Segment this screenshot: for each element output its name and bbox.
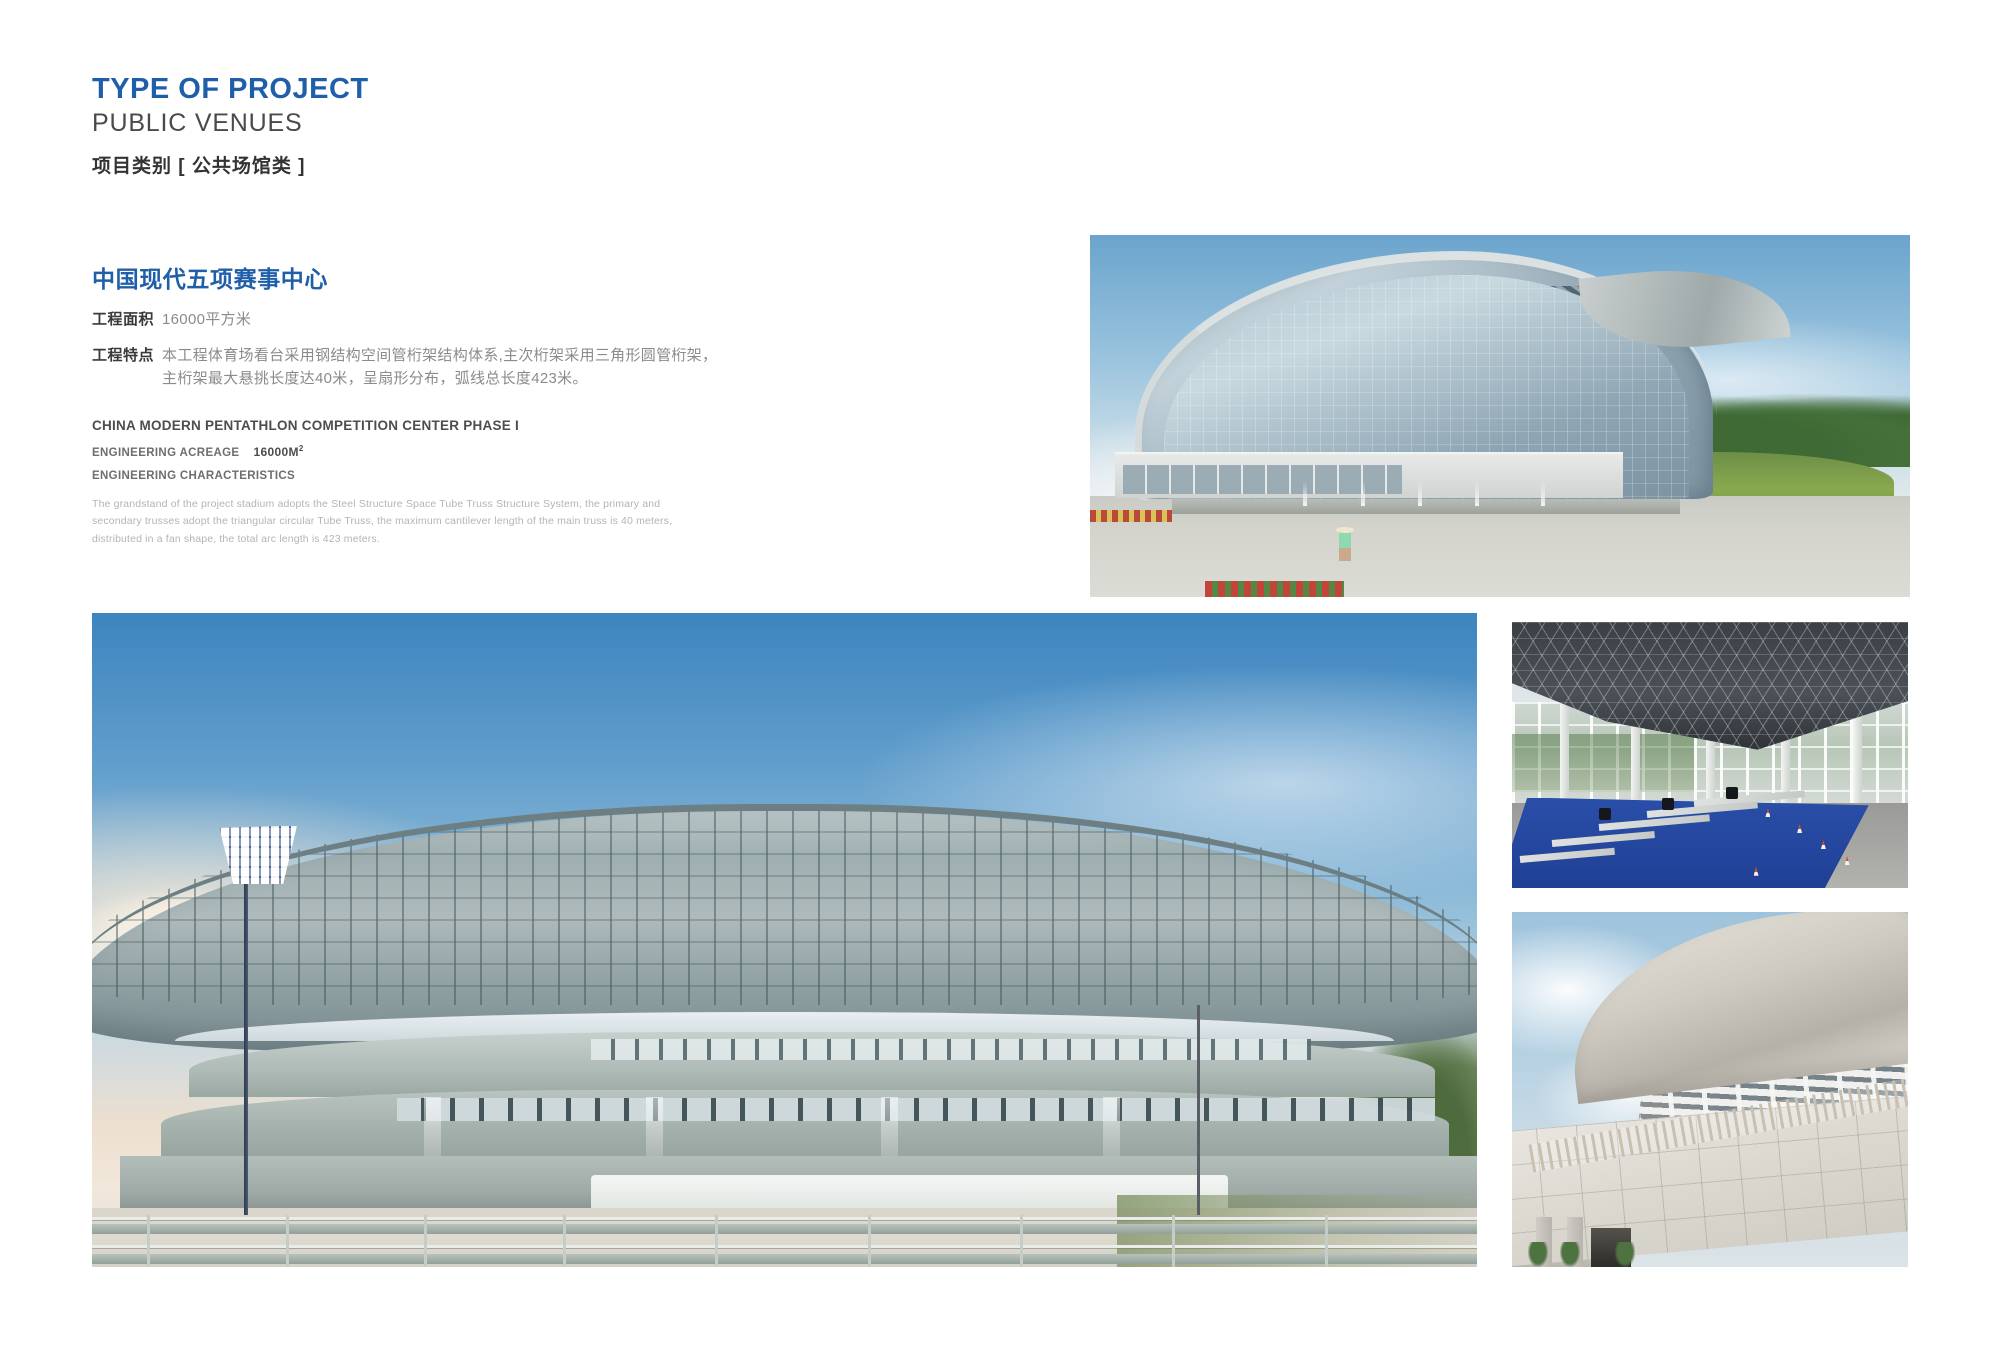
shrub bbox=[1615, 1242, 1635, 1267]
characteristics-line-1: 本工程体育场看台采用钢结构空间管桁架结构体系,主次桁架采用三角形圆管桁架， bbox=[162, 347, 717, 364]
fountain-jet bbox=[1418, 481, 1422, 506]
fountain-jet bbox=[1541, 481, 1545, 506]
acreage-unit-superscript: 2 bbox=[299, 444, 304, 453]
fence-post bbox=[1172, 1215, 1175, 1267]
photo-scene bbox=[92, 613, 1477, 1267]
grandstand-middle-windows bbox=[397, 1098, 1436, 1120]
photo-fencing-hall-interior bbox=[1512, 622, 1908, 888]
page-title: TYPE OF PROJECT bbox=[92, 72, 792, 106]
photo-facade-louver-detail bbox=[1512, 912, 1908, 1267]
characteristics-line-2: 主桁架最大悬挑长度达40米，呈扇形分布，弧线总长度423米。 bbox=[162, 367, 717, 390]
fountain-jet bbox=[1303, 481, 1307, 506]
page-subtitle: PUBLIC VENUES bbox=[92, 108, 792, 139]
acreage-label-english: ENGINEERING ACREAGE bbox=[92, 447, 239, 459]
shrub bbox=[1528, 1242, 1548, 1267]
fence-post bbox=[1325, 1215, 1328, 1267]
site-fence-band bbox=[92, 1254, 1477, 1264]
fence-post bbox=[868, 1215, 871, 1267]
plaza-retaining-wall bbox=[1172, 499, 1680, 513]
project-title-english: CHINA MODERN PENTATHLON COMPETITION CENT… bbox=[92, 417, 812, 436]
fencing-reel-equipment bbox=[1662, 798, 1674, 810]
acreage-value-chinese: 16000平方米 bbox=[162, 308, 251, 331]
site-fence-band bbox=[92, 1224, 1477, 1234]
stair-core bbox=[646, 1097, 663, 1162]
stair-core bbox=[424, 1097, 441, 1162]
floodlight-mast-pole bbox=[244, 875, 248, 1215]
site-fence-rail bbox=[92, 1245, 1477, 1248]
stair-core bbox=[1103, 1097, 1120, 1162]
fence-post bbox=[715, 1215, 718, 1267]
page-header: TYPE OF PROJECT PUBLIC VENUES 项目类别 [ 公共场… bbox=[92, 72, 792, 180]
characteristics-paragraph-english: The grandstand of the project stadium ad… bbox=[92, 496, 712, 548]
pedestrian-figure bbox=[1339, 532, 1350, 561]
engineering-characteristics-row-chinese: 工程特点 本工程体育场看台采用钢结构空间管桁架结构体系,主次桁架采用三角形圆管桁… bbox=[92, 344, 812, 391]
fountain-jet bbox=[1361, 481, 1365, 506]
photo-scene bbox=[1512, 912, 1908, 1267]
fence-post bbox=[563, 1215, 566, 1267]
glazing-foliage-view bbox=[1512, 734, 1694, 793]
fence-post bbox=[1020, 1215, 1023, 1267]
acreage-value-english: 16000M2 bbox=[253, 445, 303, 459]
fencing-reel-equipment bbox=[1726, 787, 1738, 799]
shrub bbox=[1560, 1242, 1580, 1267]
grandstand-upper-windows bbox=[591, 1039, 1311, 1060]
fence-post bbox=[147, 1215, 150, 1267]
structural-column bbox=[1560, 691, 1569, 813]
page-title-chinese: 项目类别 [ 公共场馆类 ] bbox=[92, 155, 792, 180]
engineering-acreage-row-english: ENGINEERING ACREAGE16000M2 bbox=[92, 443, 812, 462]
fencing-reel-equipment bbox=[1599, 808, 1611, 820]
stair-core bbox=[881, 1097, 898, 1162]
photo-scene bbox=[1512, 622, 1908, 888]
photo-glass-dome-building bbox=[1090, 235, 1910, 597]
english-description-block: CHINA MODERN PENTATHLON COMPETITION CENT… bbox=[92, 417, 812, 548]
photo-scene bbox=[1090, 235, 1910, 597]
fence-post bbox=[424, 1215, 427, 1267]
light-pole bbox=[1197, 1005, 1200, 1214]
photo-stadium-exterior-wide bbox=[92, 613, 1477, 1267]
fountain-jet bbox=[1475, 481, 1479, 506]
site-fence-rail bbox=[92, 1217, 1477, 1220]
project-description-block: 中国现代五项赛事中心 工程面积 16000平方米 工程特点 本工程体育场看台采用… bbox=[92, 265, 812, 548]
flowerbed bbox=[1205, 581, 1344, 597]
engineering-acreage-row-chinese: 工程面积 16000平方米 bbox=[92, 308, 812, 331]
project-title-chinese: 中国现代五项赛事中心 bbox=[92, 265, 812, 295]
characteristics-label-english: ENGINEERING CHARACTERISTICS bbox=[92, 468, 812, 485]
characteristics-label-chinese: 工程特点 bbox=[92, 344, 154, 367]
acreage-label-chinese: 工程面积 bbox=[92, 308, 154, 331]
characteristics-text-chinese: 本工程体育场看台采用钢结构空间管桁架结构体系,主次桁架采用三角形圆管桁架， 主桁… bbox=[162, 344, 717, 391]
flowerbed bbox=[1090, 510, 1172, 522]
fence-post bbox=[286, 1215, 289, 1267]
